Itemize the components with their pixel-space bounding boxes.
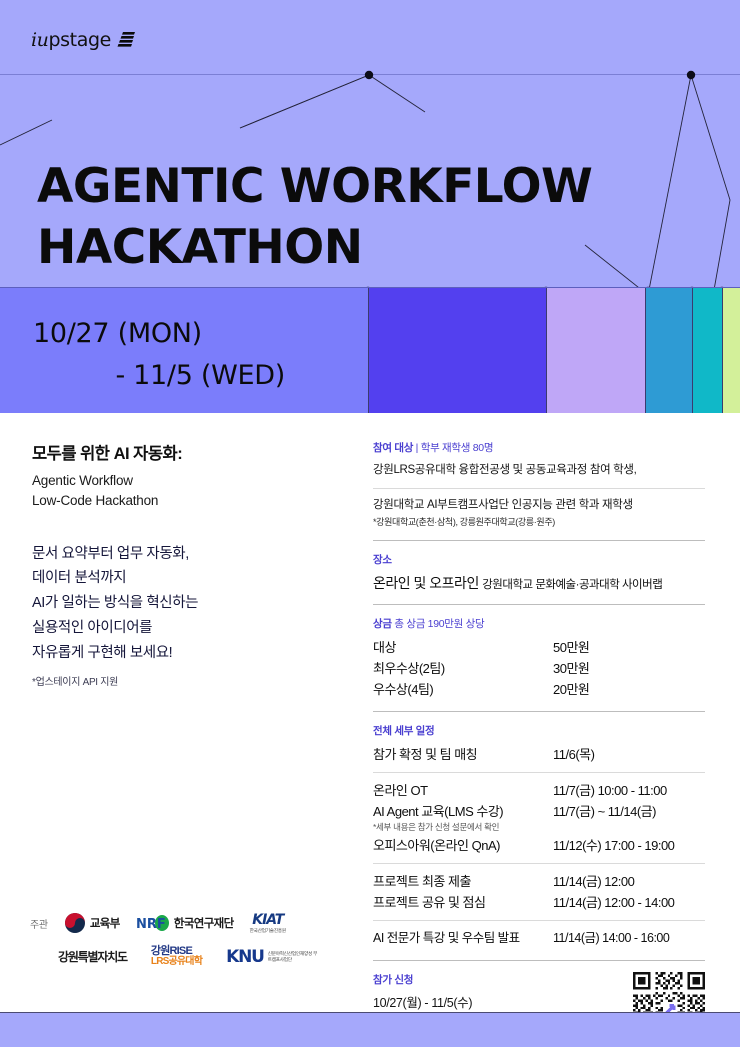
- audience-inner-divider: [373, 488, 705, 489]
- color-swatch-2: [546, 288, 645, 413]
- page-title: AGENTIC WORKFLOW HACKATHON: [37, 157, 697, 277]
- schedule-row: 참가 확정 및 팀 매칭11/6(목): [373, 744, 705, 765]
- sponsor-kiat-sub: 한국산업기술진흥원: [250, 928, 286, 934]
- section-divider: [373, 960, 705, 961]
- place-main: 온라인 및 오프라인: [373, 575, 482, 591]
- swatch-divider: [692, 288, 693, 413]
- sponsor-kiat-label: KIAT: [252, 912, 283, 928]
- prize-heading-plain: 총 상금 190만원 상당: [392, 618, 485, 630]
- left-description-line3: AI가 일하는 방식을 혁신하는: [32, 591, 352, 616]
- prize-heading-bold: 상금: [373, 618, 392, 630]
- schedule-value: 11/7(금) 10:00 - 11:00: [553, 780, 705, 801]
- nrf-logo-icon: NRF: [136, 914, 170, 932]
- svg-text:NRF: NRF: [136, 917, 166, 932]
- section-divider: [373, 604, 705, 605]
- sponsor-knu-label: KNU: [226, 947, 264, 967]
- audience-note: *강원대학교(춘천·삼척), 강릉원주대학교(강릉·원주): [373, 516, 705, 530]
- schedule-label: 프로젝트 최종 제출: [373, 871, 553, 892]
- sponsor-nrf-label: 한국연구재단: [174, 915, 234, 931]
- schedule-row: 프로젝트 최종 제출11/14(금) 12:00: [373, 871, 705, 892]
- stripes-icon: [116, 31, 136, 49]
- place-heading: 장소: [373, 552, 705, 567]
- left-subheading-line1: Agentic Workflow: [32, 471, 352, 491]
- left-api-note: *업스테이지 API 지원: [32, 673, 352, 688]
- swatch-divider: [546, 288, 547, 413]
- schedule-value: 11/14(금) 12:00 - 14:00: [553, 892, 705, 913]
- place-section: 장소 온라인 및 오프라인 강원대학교 문화예술·공과대학 사이버랩: [373, 552, 705, 593]
- schedule-value: 11/14(금) 12:00: [553, 871, 705, 892]
- prize-value: 30만원: [553, 658, 705, 679]
- schedule-row: 프로젝트 공유 및 점심11/14(금) 12:00 - 14:00: [373, 892, 705, 913]
- prize-heading: 상금 총 상금 190만원 상당: [373, 616, 705, 631]
- schedule-section: 전체 세부 일정 참가 확정 및 팀 매칭11/6(목) 온라인 OT11/7(…: [373, 723, 705, 949]
- date-end: - 11/5 (WED): [33, 355, 353, 397]
- schedule-label: AI 전문가 특강 및 우수팀 발표: [373, 928, 553, 948]
- upstage-wordmark: iupstage: [31, 29, 111, 51]
- sponsor-row-1: 주관 교육부 NRF 한국연구재단 KIAT 한국산업기술진흥원: [30, 912, 360, 934]
- taegeuk-icon: [64, 912, 86, 934]
- left-heading: 모두를 위한 AI 자동화:: [32, 440, 352, 464]
- footer-bar: [0, 1012, 740, 1047]
- sponsor-moe-label: 교육부: [90, 915, 120, 931]
- schedule-heading: 전체 세부 일정: [373, 723, 705, 738]
- swatch-divider: [722, 288, 723, 413]
- apply-heading: 참가 신청: [373, 972, 472, 987]
- left-description-line1: 문서 요약부터 업무 자동화,: [32, 542, 352, 567]
- prize-label: 대상: [373, 637, 553, 658]
- color-swatch-5: [722, 288, 740, 413]
- sponsor-row-2: 강원특별자치도 강원RISE LRS공유대학 KNU 신분야혁신산업인재양성 부…: [30, 946, 360, 968]
- section-divider: [373, 540, 705, 541]
- sponsor-moe: 교육부: [64, 912, 120, 934]
- place-tail: 강원대학교 문화예술·공과대학 사이버랩: [482, 579, 662, 591]
- upstage-wordmark-rest: pstage: [49, 29, 111, 51]
- prize-row: 대상50만원: [373, 637, 705, 658]
- schedule-label: AI Agent 교육(LMS 수강): [373, 801, 553, 822]
- schedule-note: *세부 내용은 참가 신청 설문에서 확인: [373, 821, 705, 833]
- audience-section: 참여 대상 | 학부 재학생 80명 강원LRS공유대학 융합전공생 및 공동교…: [373, 440, 705, 529]
- left-content-column: 모두를 위한 AI 자동화: Agentic Workflow Low-Code…: [32, 440, 352, 688]
- sponsor-nrf: NRF 한국연구재단: [136, 914, 234, 932]
- schedule-divider: [373, 863, 705, 864]
- prize-label: 최우수상(2팀): [373, 658, 553, 679]
- schedule-row: AI 전문가 특강 및 우수팀 발표11/14(금) 14:00 - 16:00: [373, 928, 705, 948]
- right-content-column: 참여 대상 | 학부 재학생 80명 강원LRS공유대학 융합전공생 및 공동교…: [373, 440, 705, 1047]
- prize-value: 20만원: [553, 679, 705, 700]
- audience-heading-bold: 참여 대상: [373, 442, 413, 454]
- poster-canvas: iupstage AGEN: [0, 0, 740, 1047]
- left-description-line2: 데이터 분석까지: [32, 566, 352, 591]
- section-divider: [373, 711, 705, 712]
- left-description-line5: 자유롭게 구현해 보세요!: [32, 641, 352, 666]
- sponsor-logos: 주관 교육부 NRF 한국연구재단 KIAT 한국산업기술진흥원: [30, 912, 360, 968]
- schedule-label: 온라인 OT: [373, 780, 553, 801]
- sponsor-label: 주관: [30, 916, 48, 931]
- schedule-value: 11/7(금) ~ 11/14(금): [553, 801, 705, 822]
- left-subheading: Agentic Workflow Low-Code Hackathon: [32, 471, 352, 512]
- prize-row: 최우수상(2팀)30만원: [373, 658, 705, 679]
- audience-line1: 강원LRS공유대학 융합전공생 및 공동교육과정 참여 학생,: [373, 461, 705, 481]
- hero-divider-line: [0, 74, 740, 75]
- schedule-value: 11/14(금) 14:00 - 16:00: [553, 928, 705, 948]
- swatch-divider: [645, 288, 646, 413]
- prize-value: 50만원: [553, 637, 705, 658]
- schedule-divider: [373, 920, 705, 921]
- upstage-wordmark-italic: iu: [31, 29, 49, 51]
- sponsor-knu: KNU 신분야혁신산업인재양성 부트캠프사업단: [226, 947, 320, 967]
- event-dates: 10/27 (MON) - 11/5 (WED): [33, 313, 353, 397]
- color-swatch-3: [645, 288, 692, 413]
- date-start: 10/27 (MON): [33, 318, 202, 349]
- sponsor-kiat: KIAT 한국산업기술진흥원: [250, 912, 286, 934]
- schedule-value: 11/6(목): [553, 744, 705, 765]
- audience-line2: 강원대학교 AI부트캠프사업단 인공지능 관련 학과 재학생: [373, 496, 705, 516]
- prize-section: 상금 총 상금 190만원 상당 대상50만원 최우수상(2팀)30만원 우수상…: [373, 616, 705, 700]
- sponsor-rise: 강원RISE LRS공유대학: [151, 946, 202, 968]
- left-description: 문서 요약부터 업무 자동화, 데이터 분석까지 AI가 일하는 방식을 혁신하…: [32, 542, 352, 667]
- apply-period: 10/27(월) - 11/5(수): [373, 993, 472, 1015]
- schedule-label: 오피스아워(온라인 QnA): [373, 835, 553, 856]
- schedule-divider: [373, 772, 705, 773]
- sponsor-rise-sub: LRS공유대학: [151, 957, 202, 968]
- schedule-row: AI Agent 교육(LMS 수강)11/7(금) ~ 11/14(금): [373, 801, 705, 822]
- audience-heading: 참여 대상 | 학부 재학생 80명: [373, 440, 705, 455]
- sponsor-gangwon-label: 강원특별자치도: [58, 948, 127, 965]
- place-value: 온라인 및 오프라인 강원대학교 문화예술·공과대학 사이버랩: [373, 573, 705, 593]
- color-swatch-4: [692, 288, 722, 413]
- left-description-line4: 실용적인 아이디어를: [32, 616, 352, 641]
- schedule-label: 프로젝트 공유 및 점심: [373, 892, 553, 913]
- schedule-row: 오피스아워(온라인 QnA)11/12(수) 17:00 - 19:00: [373, 835, 705, 856]
- prize-label: 우수상(4팀): [373, 679, 553, 700]
- prize-row: 우수상(4팀)20만원: [373, 679, 705, 700]
- schedule-label: 참가 확정 및 팀 매칭: [373, 744, 553, 765]
- upstage-logo: iupstage: [31, 29, 136, 51]
- sponsor-knu-sub: 신분야혁신산업인재양성 부트캠프사업단: [268, 951, 320, 962]
- left-subheading-line2: Low-Code Hackathon: [32, 491, 352, 511]
- schedule-value: 11/12(수) 17:00 - 19:00: [553, 835, 705, 856]
- swatch-divider: [368, 288, 369, 413]
- schedule-row: 온라인 OT11/7(금) 10:00 - 11:00: [373, 780, 705, 801]
- audience-heading-plain: | 학부 재학생 80명: [413, 442, 493, 454]
- color-swatch-1: [368, 288, 546, 413]
